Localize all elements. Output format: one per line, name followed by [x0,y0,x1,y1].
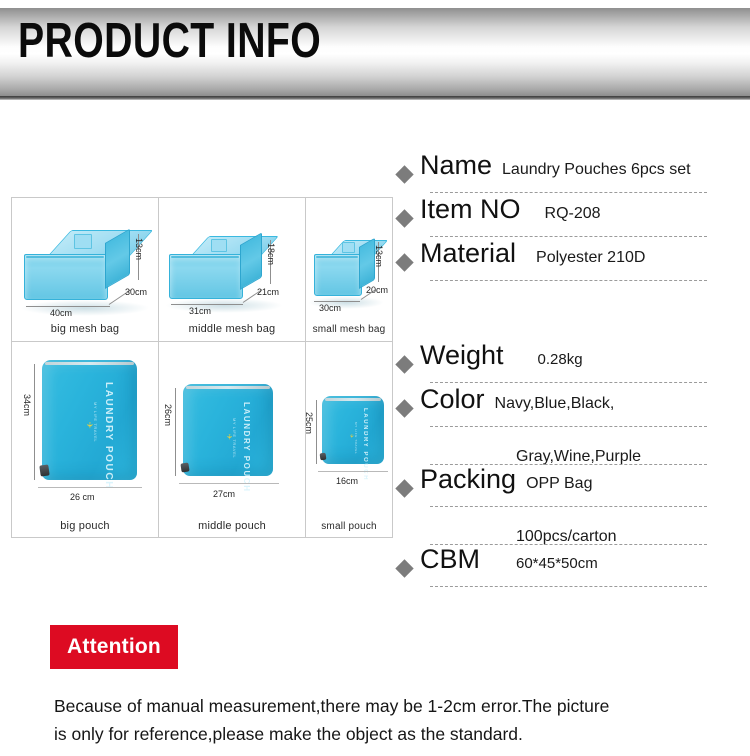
product-cell-middle-pouch: LAUNDRY POUCH MY LIFE TRAVEL ✈ 26cm 27cm… [159,341,306,538]
dim-rule-height [34,364,35,480]
pouch-pull-tab [39,464,49,476]
spec-row-cbm: CBM 60*45*50cm [398,546,738,590]
spec-row-packing: Packing OPP Bag 100pcs/carton [398,466,738,546]
spec-value: Polyester 210D [536,249,645,267]
bag-side-panel [359,238,375,289]
spec-row-color: Color Navy,Blue,Black, Gray,Wine,Purple [398,386,738,466]
spec-value: 60*45*50cm [516,555,598,572]
product-cell-middle-mesh-bag: 18cm 31cm 21cm middle mesh bag [159,198,306,341]
dim-depth: 30cm [125,287,147,297]
spec-label: Item NO [420,196,521,223]
dim-rule-width [171,304,243,305]
diamond-icon [395,399,413,417]
attention-text-line1: Because of manual measurement,there may … [54,692,720,720]
page-title: PRODUCT INFO [18,17,321,66]
dim-rule-width [179,483,279,484]
caption: big pouch [12,520,158,532]
attention-badge: Attention [50,625,178,669]
shadow [165,298,283,313]
spec-divider [430,192,707,193]
attention-text: Because of manual measurement,there may … [54,692,720,748]
spec-label: CBM [420,546,480,573]
spec-label: Color [420,386,485,413]
spec-value: Navy,Blue,Black, [495,395,615,413]
spec-divider [430,382,707,383]
spec-row-item-no: Item NO RQ-208 [398,196,738,240]
dim-height: 25cm [306,412,314,434]
product-cell-big-mesh-bag: 13cm 40cm 30cm big mesh bag [12,198,159,341]
big-pouch-illustration: LAUNDRY POUCH MY LIFE TRAVEL ✈ [42,360,137,480]
diamond-icon [395,165,413,183]
spec-value: Laundry Pouches 6pcs set [502,161,691,179]
spec-label: Name [420,152,492,179]
pouch-brand-sub: MY LIFE TRAVEL [354,422,358,454]
product-cell-small-mesh-bag: 13cm 30cm 20cm small mesh bag [306,198,392,341]
bag-front-panel [314,254,362,296]
spec-divider [430,506,707,507]
spec-divider [430,586,707,587]
product-image-grid: 13cm 40cm 30cm big mesh bag 18cm 31cm 21… [11,197,393,538]
product-cell-big-pouch: LAUNDRY POUCH MY LIFE TRAVEL ✈ 34cm 26 c… [12,341,159,538]
spec-value: RQ-208 [545,205,601,223]
middle-pouch-illustration: LAUNDRY POUCH MY LIFE TRAVEL ✈ [183,384,273,476]
pouch-brand-text: LAUNDRY POUCH [103,382,114,490]
specification-list: Name Laundry Pouches 6pcs set Item NO RQ… [398,152,738,590]
bag-zipper [26,256,104,258]
bag-label-patch [74,234,92,249]
spec-row-material: Material Polyester 210D [398,240,738,284]
dim-height: 13cm [134,238,144,260]
spec-label: Packing [420,466,516,493]
dim-depth: 21cm [257,287,279,297]
small-pouch-illustration: LAUNDRY POUCH MY LIFE TRAVEL ✈ [322,396,384,464]
spec-value: 0.28kg [538,351,583,368]
dim-rule-height [316,400,317,464]
pouch-brand-text: LAUNDRY POUCH [242,402,251,493]
caption: middle mesh bag [159,323,305,335]
airplane-icon: ✈ [348,434,354,438]
dim-rule-height [175,388,176,476]
dim-rule-width [38,487,142,488]
diamond-icon [395,559,413,577]
dim-rule-width [314,301,360,302]
airplane-icon: ✈ [225,434,233,440]
shadow [20,300,150,316]
diamond-icon [395,355,413,373]
caption: small mesh bag [306,324,392,335]
pouch-pull-tab [180,462,189,472]
diamond-icon [395,209,413,227]
airplane-icon: ✈ [85,422,94,429]
spec-continuation-line: Gray,Wine,Purple [398,430,738,466]
dim-height: 18cm [266,243,276,265]
pouch-zipper [186,386,270,389]
dim-width: 31cm [189,306,211,316]
dim-width: 16cm [336,476,358,486]
spec-spacer [398,284,738,342]
caption: middle pouch [159,520,305,532]
bag-label-patch [342,242,355,253]
spec-continuation-line: 100pcs/carton [398,510,738,546]
product-cell-small-pouch: LAUNDRY POUCH MY LIFE TRAVEL ✈ 25cm 16cm… [306,341,392,538]
bag-zipper [316,256,358,258]
bag-front-panel [24,254,108,300]
pouch-zipper [45,362,134,365]
spec-row-name: Name Laundry Pouches 6pcs set [398,152,738,196]
dim-rule-width [318,471,388,472]
dim-width: 26 cm [70,492,95,502]
attention-text-line2: is only for reference,please make the ob… [54,720,720,748]
spec-row-weight: Weight 0.28kg [398,342,738,386]
dim-width: 30cm [319,303,341,313]
spec-divider [430,426,707,427]
attention-badge-label: Attention [50,625,178,669]
dim-height: 13cm [374,245,384,267]
dim-height: 26cm [163,404,173,426]
spec-value: OPP Bag [526,475,592,493]
diamond-icon [395,479,413,497]
bag-front-panel [169,254,243,299]
pouch-zipper [325,398,381,401]
caption: big mesh bag [12,323,158,335]
dim-width: 27cm [213,489,235,499]
spec-divider [430,280,707,281]
bag-label-patch [211,239,227,252]
bag-zipper [171,256,239,258]
spec-divider [430,236,707,237]
header-underline [0,96,750,100]
dim-width: 40cm [50,308,72,318]
spec-label: Weight [420,342,504,369]
diamond-icon [395,253,413,271]
dim-depth: 20cm [366,285,388,295]
spec-label: Material [420,240,516,267]
dim-rule-width [26,306,110,307]
dim-height: 34cm [22,394,32,416]
caption: small pouch [306,521,392,532]
pouch-pull-tab [320,453,327,461]
